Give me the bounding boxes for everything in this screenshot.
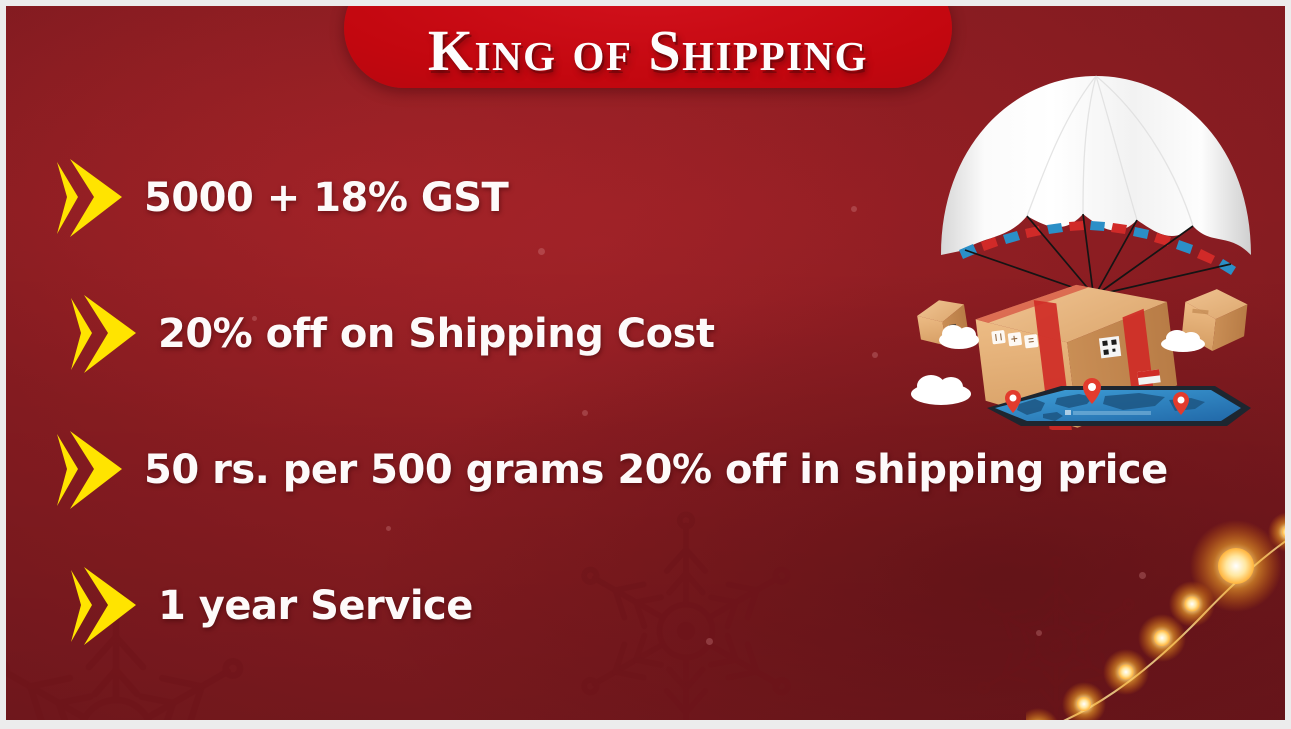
list-item: 50 rs. per 500 grams 20% off in shipping… [54,424,1234,516]
offer-label: 20% off on Shipping Cost [158,312,715,356]
double-chevron-arrow-icon [54,156,126,240]
double-chevron-arrow-icon [54,428,126,512]
double-chevron-arrow-icon [68,564,140,648]
offer-label: 50 rs. per 500 grams 20% off in shipping… [144,448,1168,492]
banner-title-pill: King of Shipping [344,6,952,88]
frame-edge-bottom [0,720,1291,729]
list-item: 5000 + 18% GST [54,152,1234,244]
shipping-promo-banner: King of Shipping 5000 + 18% GST 20% off … [0,0,1291,729]
offer-list: 5000 + 18% GST 20% off on Shipping Cost … [54,152,1234,652]
double-chevron-arrow-icon [68,292,140,376]
offer-label: 5000 + 18% GST [144,176,508,220]
page-title: King of Shipping [428,22,868,80]
frame-edge-right [1285,0,1291,729]
list-item: 1 year Service [54,560,1234,652]
banner-background: King of Shipping 5000 + 18% GST 20% off … [6,6,1285,720]
offer-label: 1 year Service [158,584,473,628]
list-item: 20% off on Shipping Cost [54,288,1234,380]
